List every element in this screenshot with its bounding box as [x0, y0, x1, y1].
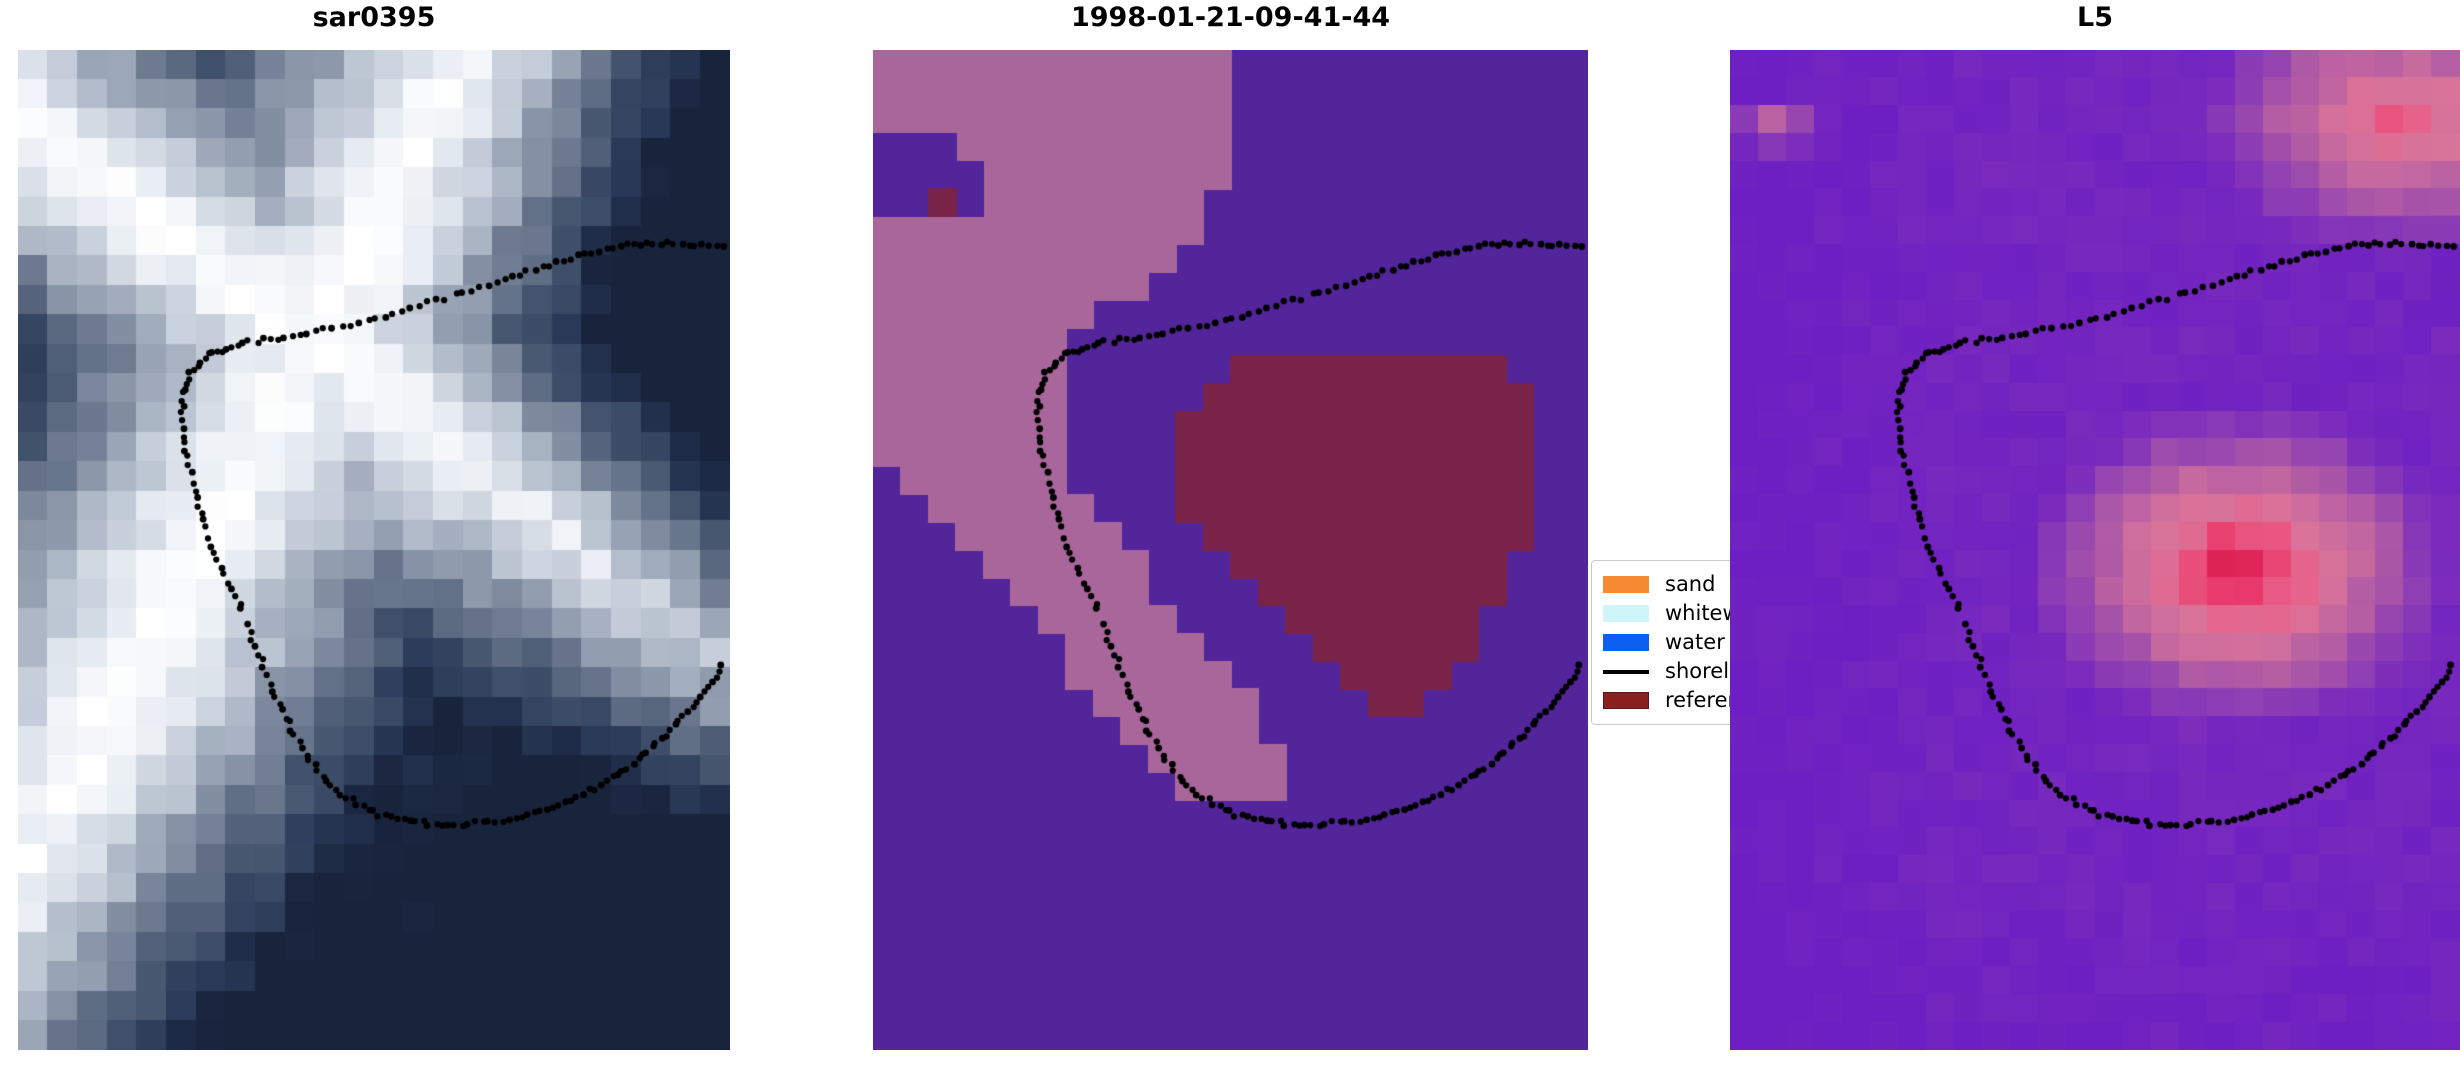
panel-title-sar: sar0395	[18, 3, 730, 33]
shoreline-line-icon	[1603, 670, 1649, 674]
whitewater-swatch-icon	[1603, 605, 1649, 622]
classified-image	[873, 50, 1588, 1050]
legend-label-sand: sand	[1665, 574, 1715, 595]
panel-title-classification: 1998-01-21-09-41-44	[873, 3, 1588, 33]
figure-canvas: sar0395 1998-01-21-09-41-44 sand whitewa…	[0, 0, 2460, 1069]
water-swatch-icon	[1603, 634, 1649, 651]
panel-title-l5: L5	[1730, 3, 2460, 33]
sand-swatch-icon	[1603, 576, 1649, 593]
legend-label-water: water	[1665, 632, 1725, 653]
l5-panel[interactable]	[1730, 50, 2460, 1050]
reference-shoreline-swatch-icon	[1603, 692, 1649, 709]
sar-panel[interactable]	[18, 50, 730, 1050]
classification-panel[interactable]	[873, 50, 1588, 1050]
sar-image	[18, 50, 730, 1050]
falsecolor-image	[1730, 50, 2460, 1050]
